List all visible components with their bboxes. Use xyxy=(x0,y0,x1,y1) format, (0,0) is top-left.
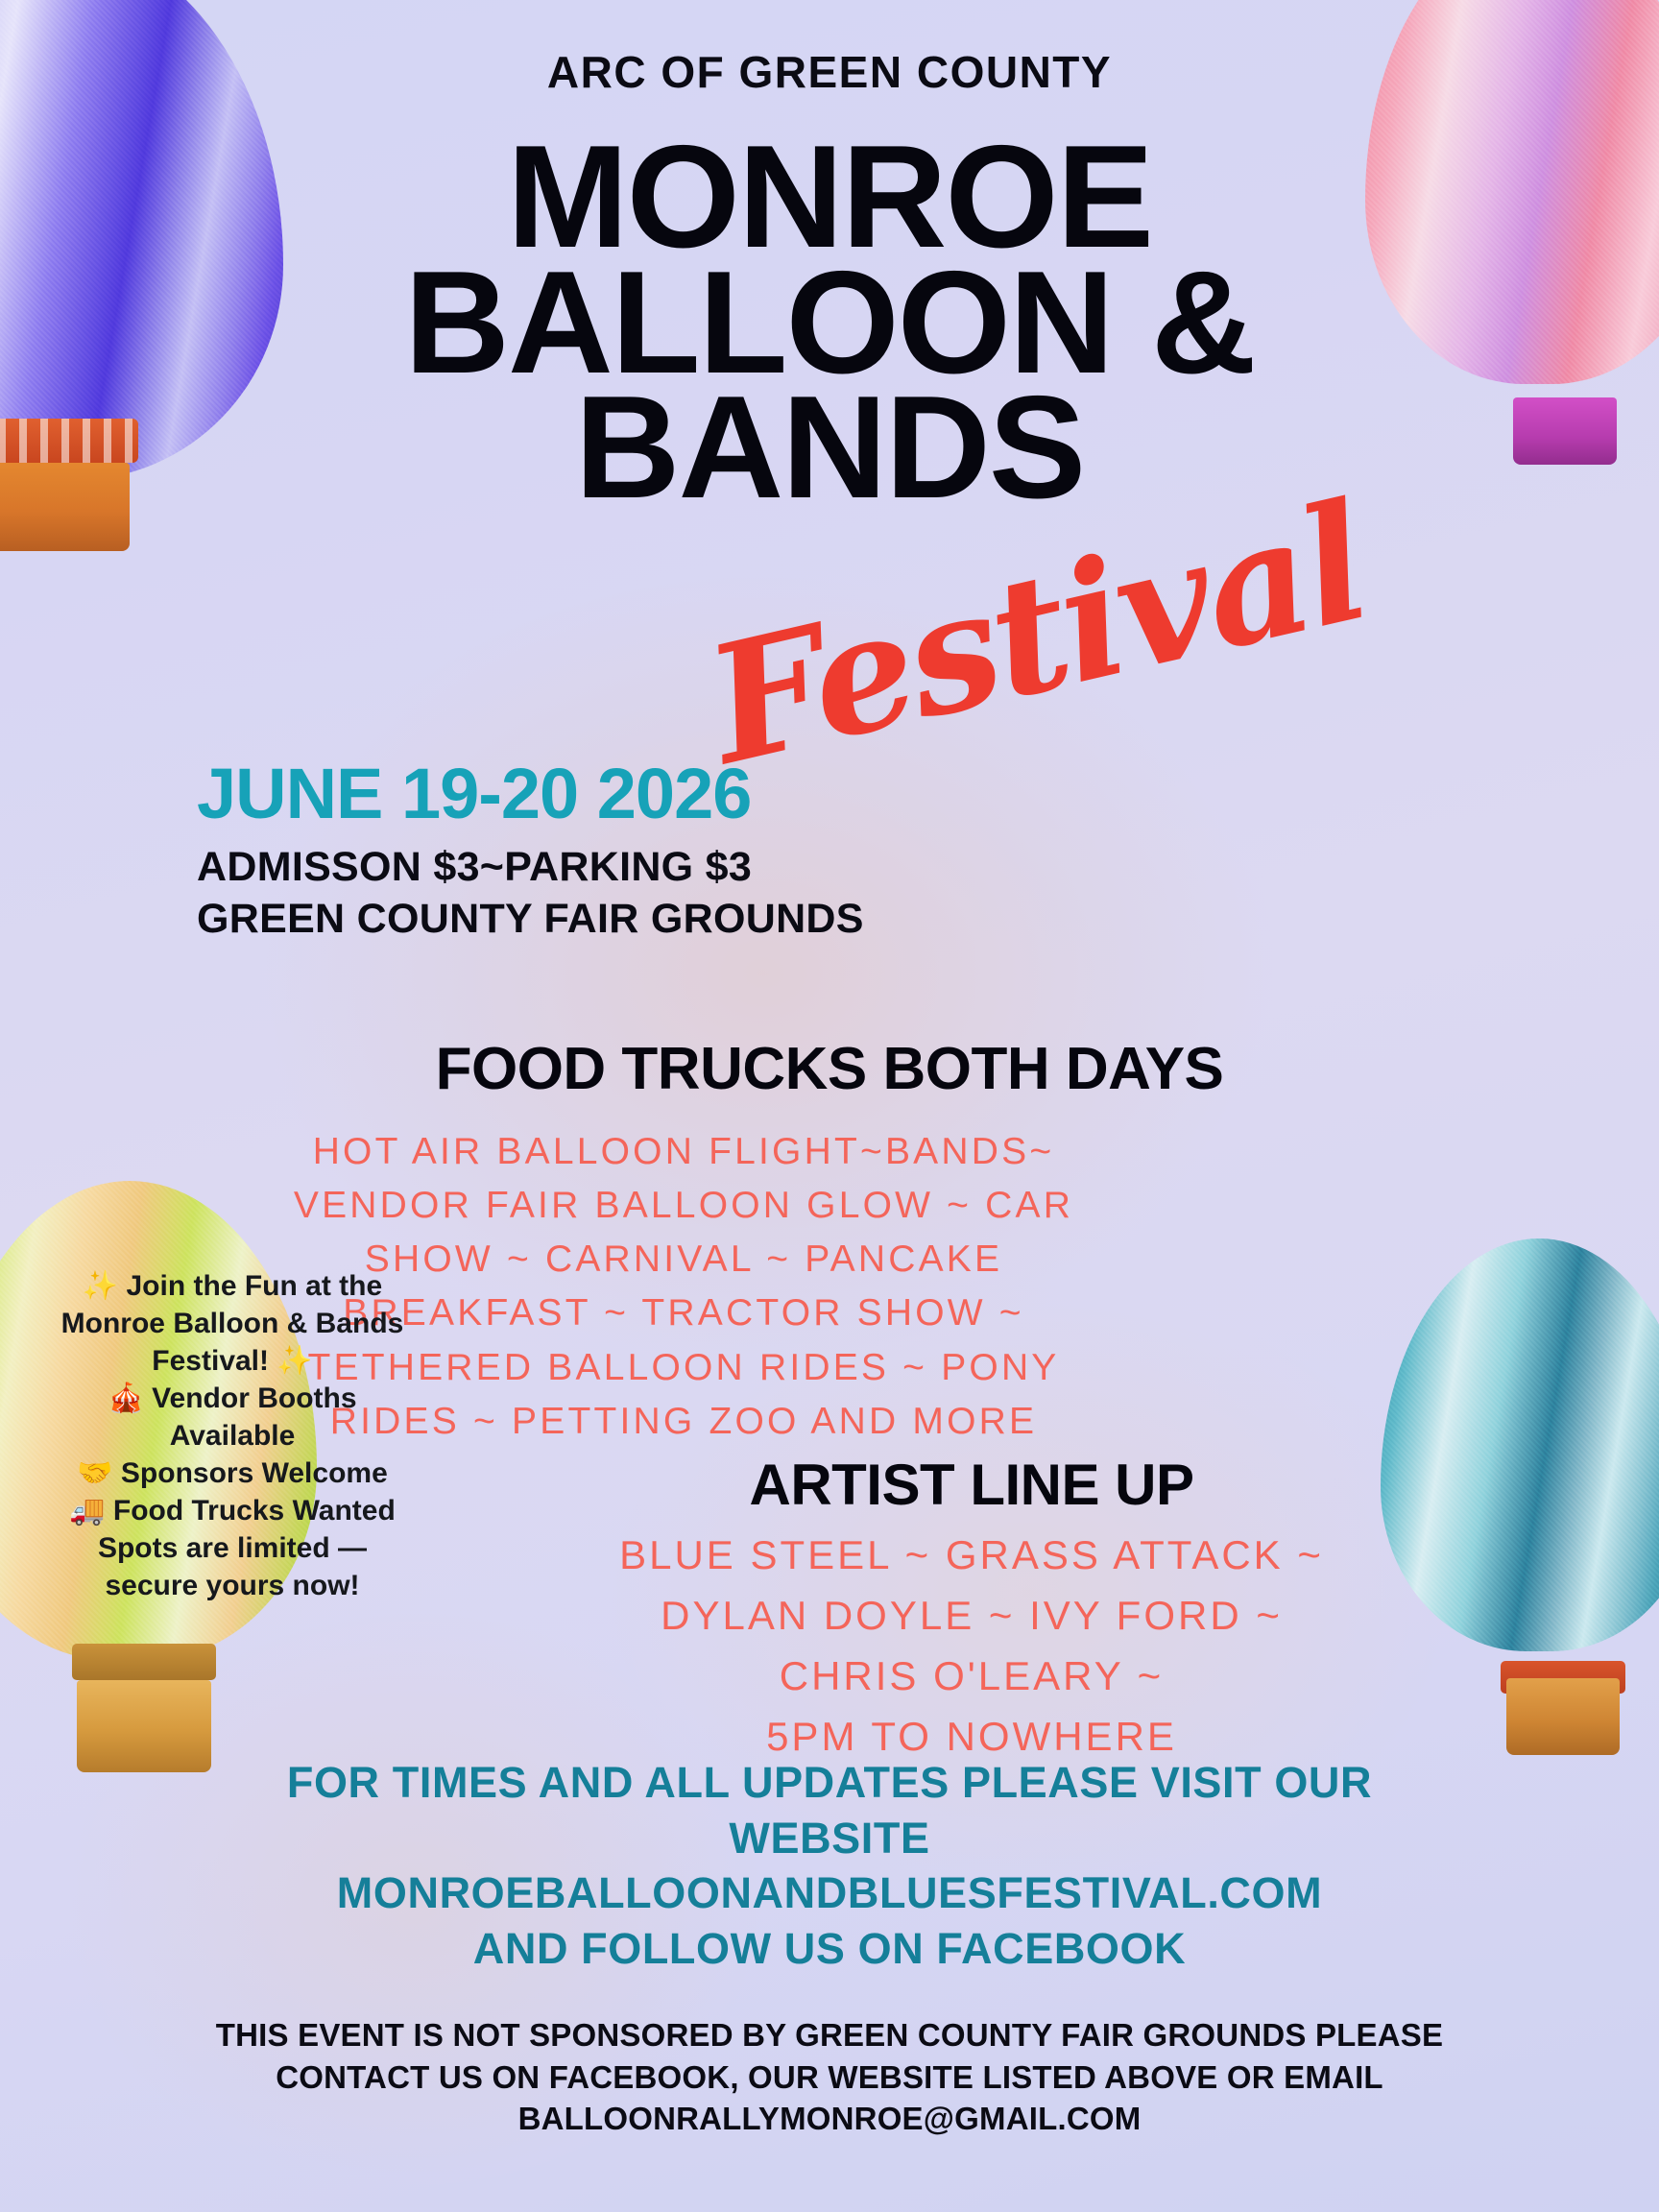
artist-line: BLUE STEEL ~ GRASS ATTACK ~ xyxy=(597,1525,1346,1585)
artist-lineup-heading: ARTIST LINE UP xyxy=(749,1452,1193,1518)
callout-line: Festival! ✨ xyxy=(40,1342,424,1380)
organization-name: ARC OF GREEN COUNTY xyxy=(0,46,1659,98)
disclaimer-line: BALLOONRALLYMONROE@GMAIL.COM xyxy=(196,2098,1463,2140)
event-details: JUNE 19-20 2026 ADMISSON $3~PARKING $3 G… xyxy=(197,758,864,944)
balloon-teal-bottom-right xyxy=(1381,1238,1659,1776)
activity-line: HOT AIR BALLOON FLIGHT~BANDS~ xyxy=(280,1125,1087,1179)
festival-poster: ARC OF GREEN COUNTY MONROE BALLOON & BAN… xyxy=(0,0,1659,2212)
venue-name: GREEN COUNTY FAIR GROUNDS xyxy=(197,895,864,945)
title-line-3: BANDS xyxy=(0,385,1659,511)
page-title: MONROE BALLOON & BANDS xyxy=(0,134,1659,511)
artist-line: DYLAN DOYLE ~ IVY FORD ~ xyxy=(597,1585,1346,1646)
callout-line: Monroe Balloon & Bands xyxy=(40,1305,424,1342)
food-trucks-heading: FOOD TRUCKS BOTH DAYS xyxy=(0,1035,1659,1103)
admission-price: ADMISSON $3~PARKING $3 xyxy=(197,843,864,893)
website-line: WEBSITE xyxy=(263,1811,1396,1866)
callout-line: ✨ Join the Fun at the xyxy=(40,1267,424,1305)
callout-line: Spots are limited — xyxy=(40,1529,424,1567)
website-line: FOR TIMES AND ALL UPDATES PLEASE VISIT O… xyxy=(263,1755,1396,1811)
callout-line: 🤝 Sponsors Welcome xyxy=(40,1455,424,1492)
disclaimer-text: THIS EVENT IS NOT SPONSORED BY GREEN COU… xyxy=(196,2014,1463,2140)
website-line: AND FOLLOW US ON FACEBOOK xyxy=(263,1921,1396,1977)
website-info-block[interactable]: FOR TIMES AND ALL UPDATES PLEASE VISIT O… xyxy=(263,1755,1396,1976)
disclaimer-line: THIS EVENT IS NOT SPONSORED BY GREEN COU… xyxy=(196,2014,1463,2056)
callout-line: Available xyxy=(40,1417,424,1455)
vendor-callout: ✨ Join the Fun at theMonroe Balloon & Ba… xyxy=(40,1267,424,1604)
activity-line: VENDOR FAIR BALLOON GLOW ~ CAR xyxy=(280,1179,1087,1233)
callout-line: 🎪 Vendor Booths xyxy=(40,1380,424,1417)
callout-line: secure yours now! xyxy=(40,1567,424,1604)
event-date: JUNE 19-20 2026 xyxy=(197,758,864,829)
artist-line: CHRIS O'LEARY ~ xyxy=(597,1646,1346,1706)
disclaimer-line: CONTACT US ON FACEBOOK, OUR WEBSITE LIST… xyxy=(196,2056,1463,2099)
artist-lineup-list: BLUE STEEL ~ GRASS ATTACK ~DYLAN DOYLE ~… xyxy=(597,1525,1346,1767)
website-line: MONROEBALLOONANDBLUESFESTIVAL.COM xyxy=(263,1865,1396,1921)
callout-line: 🚚 Food Trucks Wanted xyxy=(40,1492,424,1529)
